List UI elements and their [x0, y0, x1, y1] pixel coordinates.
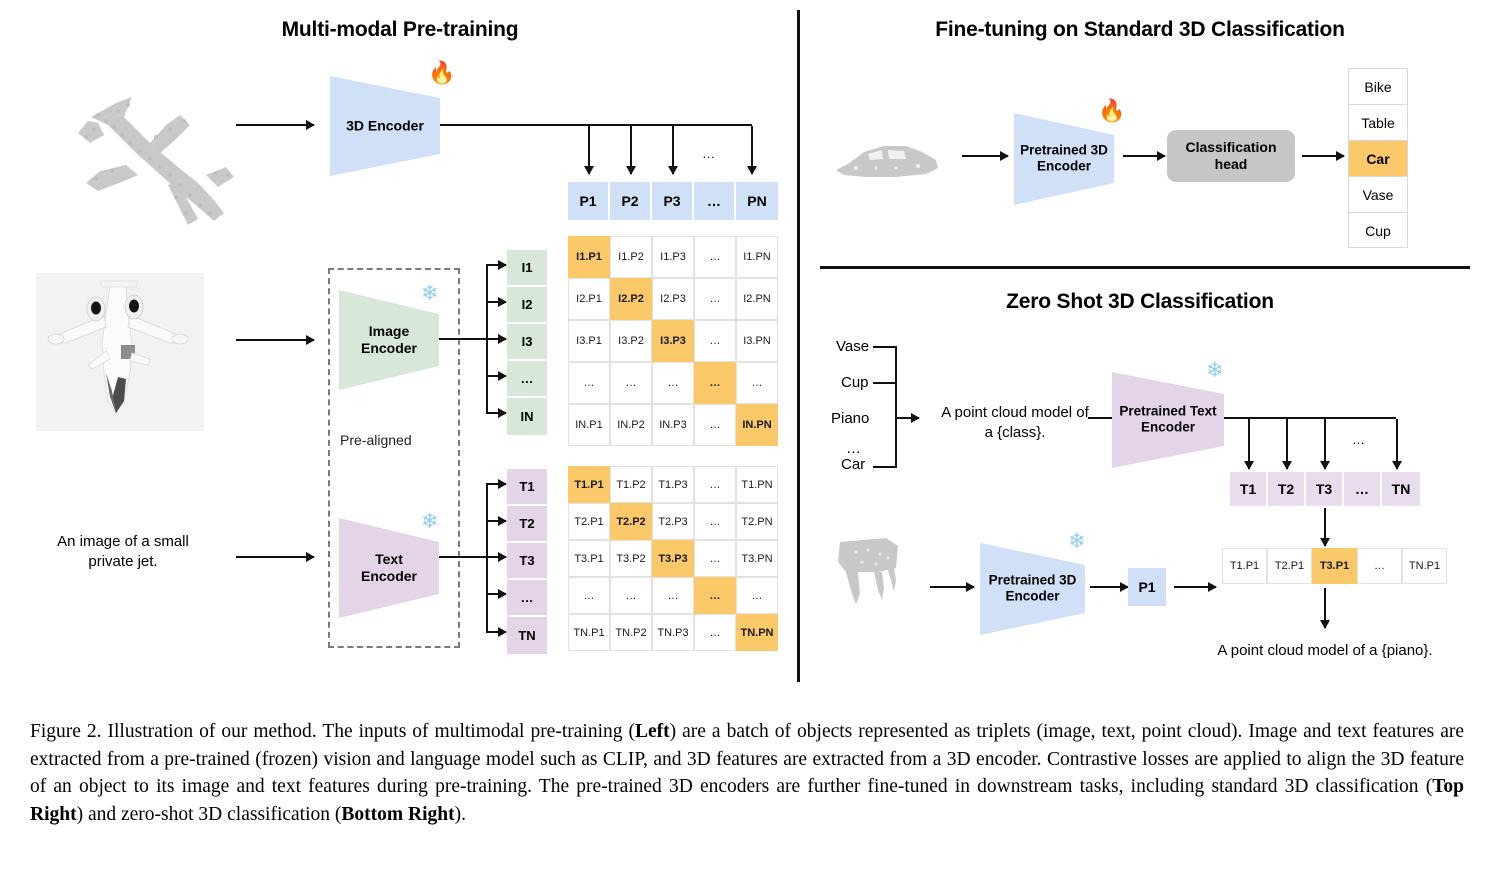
pretrained-text-encoder-label: Pretrained Text Encoder: [1112, 404, 1224, 437]
t-label[interactable]: T2: [507, 506, 547, 543]
i-label[interactable]: IN: [507, 398, 547, 435]
matrix-cell[interactable]: T1.PN: [736, 466, 778, 503]
matrix-cell[interactable]: …: [694, 362, 736, 404]
matrix-cell[interactable]: …: [610, 362, 652, 404]
matrix-cell[interactable]: T3.P3: [652, 540, 694, 577]
zs-encoder-line1: Pretrained 3D: [980, 573, 1085, 589]
matrix-cell[interactable]: I1.P2: [610, 236, 652, 278]
class-row-selected[interactable]: Car: [1349, 141, 1407, 177]
text-enc-line1: Pretrained Text: [1112, 404, 1224, 420]
piano-point-cloud: [826, 528, 916, 608]
caption-part-4: ).: [455, 804, 466, 825]
matrix-cell[interactable]: …: [694, 320, 736, 362]
car-point-cloud: [826, 130, 946, 190]
arrow-to-in: [486, 412, 506, 414]
fanout-dots-p: …: [702, 146, 715, 161]
matrix-cell[interactable]: …: [694, 577, 736, 614]
arrow-to-pn: [751, 126, 753, 174]
zeroshot-class-piano[interactable]: Piano: [831, 410, 869, 427]
p1-feature-label: P1: [1138, 579, 1155, 595]
arrow-to-t3-zeroshot: [1324, 419, 1326, 469]
i-label[interactable]: …: [507, 361, 547, 398]
fanout-trunk-p: [440, 124, 752, 126]
matrix-cell[interactable]: TN.P1: [568, 614, 610, 651]
zeroshot-class-vase[interactable]: Vase: [836, 338, 869, 355]
p-cell[interactable]: P2: [610, 182, 652, 220]
figure-caption: Figure 2. Illustration of our method. Th…: [30, 718, 1464, 829]
zeroshot-result-text: A point cloud model of a {piano}.: [1205, 642, 1445, 659]
arrow-simrow-to-result: [1324, 588, 1326, 628]
class-list-finetune: Bike Table Car Vase Cup: [1348, 68, 1408, 248]
matrix-cell[interactable]: IN.P2: [610, 404, 652, 446]
sim-cell[interactable]: T2.P1: [1267, 548, 1312, 584]
matrix-cell[interactable]: …: [694, 503, 736, 540]
zeroshot-fanout-dots: …: [1352, 432, 1365, 447]
arrow-p1-to-sim: [1174, 586, 1216, 588]
matrix-cell[interactable]: I1.PN: [736, 236, 778, 278]
matrix-cell[interactable]: IN.P3: [652, 404, 694, 446]
class-row[interactable]: Table: [1349, 105, 1407, 141]
matrix-row: T3.P1 T3.P2 T3.P3 … T3.PN: [568, 540, 778, 577]
arrow-head-to-classes: [1302, 155, 1344, 157]
matrix-cell[interactable]: IN.PN: [736, 404, 778, 446]
arrow-to-i1: [486, 264, 506, 266]
matrix-cell[interactable]: I3.PN: [736, 320, 778, 362]
matrix-cell[interactable]: T2.PN: [736, 503, 778, 540]
matrix-cell[interactable]: …: [694, 540, 736, 577]
caption-part-1: Figure 2. Illustration of our method. Th…: [30, 721, 635, 742]
arrow-to-i2: [486, 301, 506, 303]
encoder-text-line2: Encoder: [339, 568, 439, 585]
zeroshot-class-dots: …: [846, 440, 861, 457]
prompt-line1: A point cloud model of: [920, 403, 1110, 423]
pretrained-3d-encoder-zeroshot[interactable]: Pretrained 3D Encoder: [980, 543, 1085, 635]
classification-head-label: Classification head: [1185, 139, 1276, 174]
prompt-template: A point cloud model of a {class}.: [920, 403, 1110, 442]
pretrained-3d-encoder-finetune[interactable]: Pretrained 3D Encoder: [1014, 113, 1114, 205]
t-label[interactable]: T3: [507, 543, 547, 580]
right-panels-horizontal-divider: [820, 266, 1470, 269]
matrix-cell[interactable]: T1.P1: [568, 466, 610, 503]
matrix-cell[interactable]: …: [694, 614, 736, 651]
fanout-image-stem: [439, 338, 487, 340]
prealigned-label: Pre-aligned: [340, 432, 412, 448]
matrix-cell[interactable]: …: [736, 577, 778, 614]
sim-cell[interactable]: …: [1357, 548, 1402, 584]
encoder-3d[interactable]: 3D Encoder: [330, 76, 440, 176]
matrix-cell[interactable]: IN.P1: [568, 404, 610, 446]
snowflake-icon-image-encoder: ❄: [421, 283, 439, 304]
arrow-encoder-to-head: [1123, 155, 1165, 157]
i-label[interactable]: I3: [507, 324, 547, 361]
matrix-cell[interactable]: T3.PN: [736, 540, 778, 577]
matrix-cell[interactable]: I3.P1: [568, 320, 610, 362]
fire-icon: 🔥: [428, 62, 455, 84]
fire-icon-finetune: 🔥: [1098, 100, 1125, 122]
p-cell[interactable]: P3: [652, 182, 694, 220]
text-feature-column: T1 T2 T3 … TN: [507, 469, 547, 654]
matrix-cell[interactable]: T1.P3: [652, 466, 694, 503]
matrix-cell[interactable]: TN.PN: [736, 614, 778, 651]
arrow-to-t1: [486, 483, 506, 485]
matrix-row: … … … … …: [568, 362, 778, 404]
head-line1: Classification: [1185, 139, 1276, 157]
matrix-cell[interactable]: T2.P1: [568, 503, 610, 540]
class-brace-tick-cup: [873, 382, 897, 384]
matrix-cell[interactable]: …: [694, 466, 736, 503]
bottomright-panel-title: Zero Shot 3D Classification: [830, 290, 1450, 314]
matrix-cell[interactable]: …: [694, 278, 736, 320]
image-point-similarity-matrix: I1.P1 I1.P2 I1.P3 … I1.PN I2.P1 I2.P2 I2…: [568, 236, 778, 446]
matrix-cell[interactable]: T3.P1: [568, 540, 610, 577]
jet-render-image: [36, 273, 204, 431]
arrow-pointcloud-to-3d-encoder: [236, 124, 314, 126]
head-line2: head: [1185, 156, 1276, 174]
matrix-cell[interactable]: …: [694, 404, 736, 446]
matrix-cell[interactable]: TN.P2: [610, 614, 652, 651]
matrix-cell[interactable]: TN.P3: [652, 614, 694, 651]
text-input-line1: An image of a small: [18, 532, 228, 552]
t-cell[interactable]: …: [1344, 472, 1382, 506]
matrix-cell[interactable]: T2.P2: [610, 503, 652, 540]
matrix-row: I1.P1 I1.P2 I1.P3 … I1.PN: [568, 236, 778, 278]
snowflake-icon-3d-encoder-zeroshot: ❄: [1068, 531, 1086, 552]
arrow-to-tn: [486, 631, 506, 633]
text-input-caption: An image of a small private jet.: [18, 532, 228, 571]
p-cell[interactable]: …: [694, 182, 736, 220]
zs-encoder-line2: Encoder: [980, 589, 1085, 605]
snowflake-icon-text-encoder-zeroshot: ❄: [1206, 360, 1224, 381]
class-row[interactable]: Vase: [1349, 177, 1407, 213]
text-input-line2: private jet.: [18, 552, 228, 572]
panel-vertical-divider: [797, 10, 800, 682]
zeroshot-class-car[interactable]: Car: [841, 456, 865, 473]
matrix-cell[interactable]: …: [652, 577, 694, 614]
text-enc-line2: Encoder: [1112, 420, 1224, 436]
fanout-text-stem: [439, 556, 487, 558]
matrix-row: IN.P1 IN.P2 IN.P3 … IN.PN: [568, 404, 778, 446]
image-feature-column: I1 I2 I3 … IN: [507, 250, 547, 435]
caption-bold-left: Left: [635, 721, 670, 742]
encoder-text-label: Text Encoder: [339, 551, 439, 585]
class-brace-spine: [895, 346, 897, 468]
arrow-to-i3: [486, 338, 506, 340]
arrow-piano-to-encoder: [930, 586, 974, 588]
i-label[interactable]: I1: [507, 250, 547, 287]
matrix-row: T2.P1 T2.P2 T2.P3 … T2.PN: [568, 503, 778, 540]
matrix-cell[interactable]: I3.P3: [652, 320, 694, 362]
arrow-to-tdots: [486, 593, 506, 595]
zeroshot-similarity-row: T1.P1 T2.P1 T3.P1 … TN.P1: [1222, 548, 1447, 584]
ft-encoder-line2: Encoder: [1014, 159, 1114, 175]
prompt-line2: a {class}.: [920, 423, 1110, 443]
pretrained-3d-encoder-finetune-label: Pretrained 3D Encoder: [1014, 143, 1114, 176]
arrow-image-to-image-encoder: [236, 339, 314, 341]
matrix-row: … … … … …: [568, 577, 778, 614]
caption-part-3: ) and zero-shot 3D classification (: [77, 804, 342, 825]
matrix-cell[interactable]: I2.P2: [610, 278, 652, 320]
class-row[interactable]: Bike: [1349, 69, 1407, 105]
matrix-row: I3.P1 I3.P2 I3.P3 … I3.PN: [568, 320, 778, 362]
t-cell[interactable]: T1: [1230, 472, 1268, 506]
t-cell[interactable]: T2: [1268, 472, 1306, 506]
arrow-encoder-to-p1: [1090, 586, 1128, 588]
encoder-image-line2: Encoder: [339, 340, 439, 357]
matrix-cell[interactable]: T3.P2: [610, 540, 652, 577]
matrix-cell[interactable]: …: [568, 577, 610, 614]
airplane-point-cloud: [28, 55, 278, 240]
matrix-cell[interactable]: …: [568, 362, 610, 404]
matrix-row: T1.P1 T1.P2 T1.P3 … T1.PN: [568, 466, 778, 503]
class-brace-tick-car: [873, 466, 897, 468]
zeroshot-t-row: T1 T2 T3 … TN: [1230, 472, 1420, 506]
matrix-cell[interactable]: T1.P2: [610, 466, 652, 503]
encoder-text[interactable]: Text Encoder: [339, 518, 439, 618]
class-brace-tick-vase: [873, 346, 897, 348]
arrow-to-t1-zeroshot: [1248, 419, 1250, 469]
matrix-cell[interactable]: I1.P3: [652, 236, 694, 278]
caption-bold-bottomright: Bottom Right: [341, 804, 454, 825]
t-label[interactable]: TN: [507, 617, 547, 654]
arrow-text-to-text-encoder: [236, 556, 314, 558]
sim-cell[interactable]: TN.P1: [1402, 548, 1447, 584]
matrix-cell[interactable]: I3.P2: [610, 320, 652, 362]
arrow-to-idots: [486, 375, 506, 377]
p-feature-row: P1 P2 P3 … PN: [568, 182, 778, 220]
sim-cell[interactable]: T1.P1: [1222, 548, 1267, 584]
sim-cell-selected[interactable]: T3.P1: [1312, 548, 1357, 584]
p1-feature-box[interactable]: P1: [1128, 568, 1166, 606]
matrix-row: I2.P1 I2.P2 I2.P3 … I2.PN: [568, 278, 778, 320]
encoder-text-line1: Text: [339, 551, 439, 568]
matrix-cell[interactable]: …: [610, 577, 652, 614]
classification-head[interactable]: Classification head: [1167, 130, 1295, 182]
fanout-text-spine: [486, 484, 488, 632]
t-label[interactable]: …: [507, 580, 547, 617]
matrix-cell[interactable]: I1.P1: [568, 236, 610, 278]
matrix-cell[interactable]: …: [694, 236, 736, 278]
arrow-to-t2-zeroshot: [1286, 419, 1288, 469]
matrix-cell[interactable]: T2.P3: [652, 503, 694, 540]
matrix-cell[interactable]: …: [652, 362, 694, 404]
text-point-similarity-matrix: T1.P1 T1.P2 T1.P3 … T1.PN T2.P1 T2.P2 T2…: [568, 466, 778, 651]
arrow-trow-to-simrow: [1324, 508, 1326, 546]
ft-encoder-line1: Pretrained 3D: [1014, 143, 1114, 159]
i-label[interactable]: I2: [507, 287, 547, 324]
pretrained-text-encoder[interactable]: Pretrained Text Encoder: [1112, 372, 1224, 468]
arrow-to-t2: [486, 520, 506, 522]
p-cell[interactable]: PN: [736, 182, 778, 220]
t-cell[interactable]: TN: [1382, 472, 1420, 506]
topright-panel-title: Fine-tuning on Standard 3D Classificatio…: [830, 18, 1450, 42]
zeroshot-class-cup[interactable]: Cup: [841, 374, 869, 391]
arrow-car-to-encoder: [962, 155, 1008, 157]
matrix-cell[interactable]: …: [736, 362, 778, 404]
arrow-classes-to-prompt: [895, 417, 919, 419]
matrix-cell[interactable]: I2.PN: [736, 278, 778, 320]
arrow-to-p3: [672, 126, 674, 174]
matrix-cell[interactable]: I2.P1: [568, 278, 610, 320]
arrow-to-tn-zeroshot: [1396, 419, 1398, 469]
matrix-cell[interactable]: I2.P3: [652, 278, 694, 320]
p-cell[interactable]: P1: [568, 182, 610, 220]
encoder-image-label: Image Encoder: [339, 323, 439, 357]
arrow-to-p1: [588, 126, 590, 174]
matrix-row: TN.P1 TN.P2 TN.P3 … TN.PN: [568, 614, 778, 651]
snowflake-icon-text-encoder: ❄: [421, 511, 439, 532]
t-label[interactable]: T1: [507, 469, 547, 506]
pretrained-3d-encoder-zeroshot-label: Pretrained 3D Encoder: [980, 573, 1085, 606]
encoder-image[interactable]: Image Encoder: [339, 290, 439, 390]
encoder-image-line1: Image: [339, 323, 439, 340]
encoder-3d-label: 3D Encoder: [330, 117, 440, 134]
arrow-to-p2: [630, 126, 632, 174]
left-panel-title: Multi-modal Pre-training: [130, 18, 670, 42]
arrow-to-t3: [486, 556, 506, 558]
t-cell[interactable]: T3: [1306, 472, 1344, 506]
class-row[interactable]: Cup: [1349, 213, 1407, 249]
